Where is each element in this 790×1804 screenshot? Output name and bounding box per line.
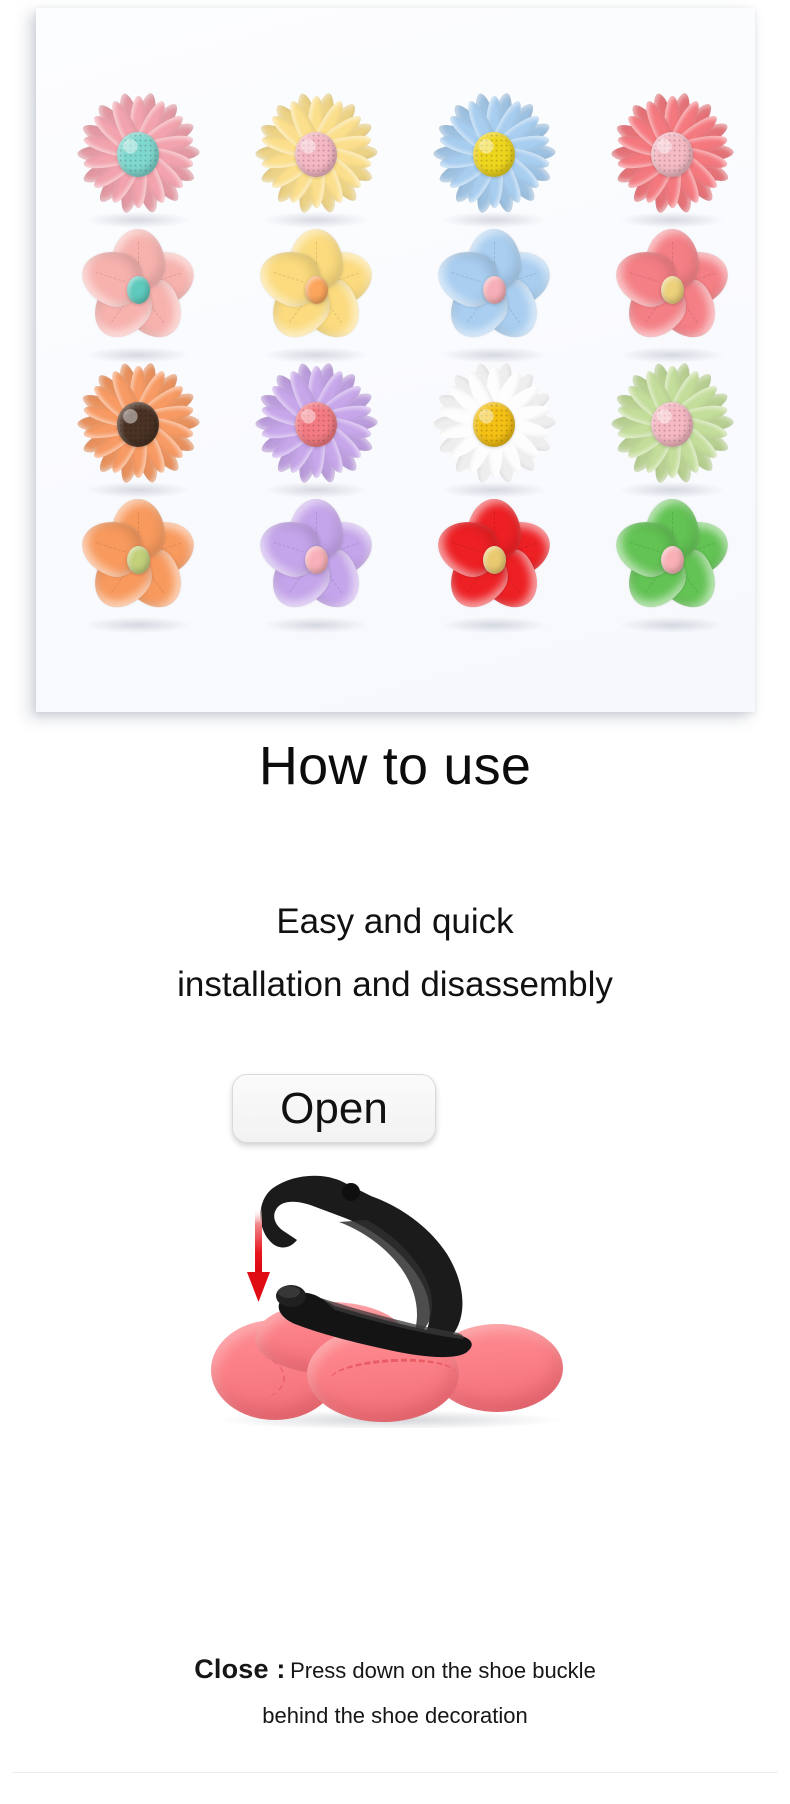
- flower-center: [127, 546, 150, 574]
- product-photo: [36, 8, 755, 712]
- flower-cell: [54, 221, 222, 356]
- flower-center: [295, 402, 337, 447]
- flower-charm: [608, 90, 736, 218]
- flower-charm: [252, 225, 380, 353]
- open-button[interactable]: Open: [232, 1074, 436, 1143]
- caption-lead-label: Close :: [194, 1654, 285, 1684]
- flower-center: [661, 546, 684, 574]
- flower-cell: [588, 221, 755, 356]
- flower-center: [473, 132, 515, 177]
- flower-cell: [588, 86, 755, 221]
- caption-text-line-2: behind the shoe decoration: [0, 1695, 790, 1737]
- buckle-knob-highlight: [278, 1286, 300, 1298]
- flower-center: [483, 276, 506, 304]
- flower-cell: [232, 491, 400, 626]
- flower-shadow: [86, 617, 190, 633]
- caption-line-1: Close : Press down on the shoe buckle: [0, 1648, 790, 1695]
- flower-center: [661, 276, 684, 304]
- flower-center: [117, 402, 159, 447]
- flower-grid: [36, 86, 755, 626]
- buckle-demo-photo: [185, 1168, 605, 1428]
- flower-charm: [252, 495, 380, 623]
- flower-charm: [252, 90, 380, 218]
- caption-text-line-1: Press down on the shoe buckle: [290, 1658, 596, 1683]
- flower-center: [127, 276, 150, 304]
- flower-center: [651, 132, 693, 177]
- flower-shadow: [620, 617, 724, 633]
- flower-charm: [74, 360, 202, 488]
- flower-cell: [54, 86, 222, 221]
- flower-cell: [232, 86, 400, 221]
- subheading: Easy and quick installation and disassem…: [0, 890, 790, 1016]
- flower-cell: [410, 356, 578, 491]
- flower-shadow: [264, 617, 368, 633]
- flower-center: [651, 402, 693, 447]
- flower-charm: [74, 90, 202, 218]
- flower-cell: [588, 356, 755, 491]
- flower-center: [473, 402, 515, 447]
- caption-block: Close : Press down on the shoe buckle be…: [0, 1648, 790, 1737]
- flower-shadow: [442, 617, 546, 633]
- flower-charm: [74, 225, 202, 353]
- flower-charm: [430, 225, 558, 353]
- section-divider: [12, 1772, 778, 1773]
- flower-center: [305, 546, 328, 574]
- page-title: How to use: [0, 735, 790, 797]
- subheading-line-1: Easy and quick: [0, 890, 790, 953]
- subheading-line-2: installation and disassembly: [0, 953, 790, 1016]
- buckle-hinge-pin: [342, 1183, 360, 1201]
- flower-cell: [54, 491, 222, 626]
- flower-cell: [410, 86, 578, 221]
- flower-center: [117, 132, 159, 177]
- flower-charm: [430, 360, 558, 488]
- flower-charm: [608, 495, 736, 623]
- flower-center: [305, 276, 328, 304]
- flower-charm: [608, 225, 736, 353]
- flower-charm: [252, 360, 380, 488]
- flower-charm: [430, 495, 558, 623]
- flower-center: [295, 132, 337, 177]
- flower-center: [483, 546, 506, 574]
- flower-cell: [588, 491, 755, 626]
- flower-cell: [410, 491, 578, 626]
- flower-charm: [430, 90, 558, 218]
- flower-cell: [232, 356, 400, 491]
- flower-cell: [410, 221, 578, 356]
- black-shoe-buckle-clip: [185, 1168, 605, 1428]
- flower-cell: [232, 221, 400, 356]
- flower-charm: [608, 360, 736, 488]
- flower-cell: [54, 356, 222, 491]
- flower-charm: [74, 495, 202, 623]
